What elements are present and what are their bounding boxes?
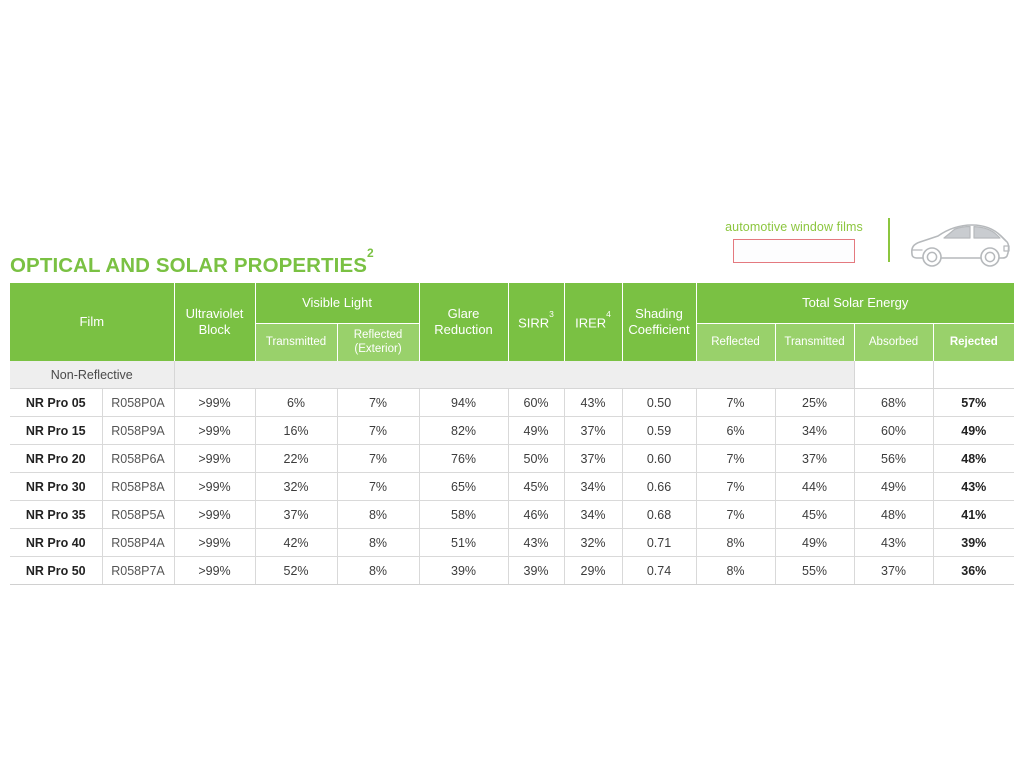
brand-divider [888, 218, 890, 262]
cell-tse-rejected: 49% [933, 417, 1014, 445]
header-ultraviolet-block: Ultraviolet Block [174, 283, 255, 361]
header-tse-reflected: Reflected [696, 324, 775, 362]
cell-vl-reflected: 7% [337, 473, 419, 501]
cell-shading-coefficient: 0.68 [622, 501, 696, 529]
cell-film-name: NR Pro 30 [10, 473, 102, 501]
cell-tse-rejected: 43% [933, 473, 1014, 501]
category-label: Non-Reflective [10, 361, 174, 389]
cell-uv-block: >99% [174, 417, 255, 445]
cell-tse-reflected: 7% [696, 501, 775, 529]
cell-glare-reduction: 65% [419, 473, 508, 501]
table-row: NR Pro 30R058P8A>99%32%7%65%45%34%0.667%… [10, 473, 1014, 501]
page-title-superscript: 2 [367, 246, 374, 260]
table-row: NR Pro 20R058P6A>99%22%7%76%50%37%0.607%… [10, 445, 1014, 473]
cell-irer: 32% [564, 529, 622, 557]
cell-tse-absorbed: 37% [854, 557, 933, 585]
cell-film-code: R058P9A [102, 417, 174, 445]
cell-shading-coefficient: 0.74 [622, 557, 696, 585]
cell-tse-rejected: 39% [933, 529, 1014, 557]
table-row: NR Pro 15R058P9A>99%16%7%82%49%37%0.596%… [10, 417, 1014, 445]
cell-tse-absorbed: 48% [854, 501, 933, 529]
cell-sirr: 45% [508, 473, 564, 501]
cell-tse-absorbed: 60% [854, 417, 933, 445]
cell-shading-coefficient: 0.59 [622, 417, 696, 445]
cell-vl-reflected: 8% [337, 501, 419, 529]
car-side-icon [908, 220, 1012, 275]
cell-tse-transmitted: 55% [775, 557, 854, 585]
cell-vl-transmitted: 32% [255, 473, 337, 501]
cell-tse-transmitted: 37% [775, 445, 854, 473]
header-tse-transmitted: Transmitted [775, 324, 854, 362]
cell-glare-reduction: 82% [419, 417, 508, 445]
cell-film-name: NR Pro 20 [10, 445, 102, 473]
page-title: OPTICAL AND SOLAR PROPERTIES2 [10, 253, 374, 278]
cell-glare-reduction: 94% [419, 389, 508, 417]
cell-irer: 37% [564, 417, 622, 445]
cell-film-code: R058P4A [102, 529, 174, 557]
table-body: Non-Reflective NR Pro 05R058P0A>99%6%7%9… [10, 361, 1014, 585]
brand-tagline: automotive window films [712, 220, 876, 234]
cell-film-name: NR Pro 05 [10, 389, 102, 417]
category-blank-white-rejected [933, 361, 1014, 389]
cell-sirr: 39% [508, 557, 564, 585]
header-visible-light-reflected: Reflected (Exterior) [337, 324, 419, 362]
brand-left: automotive window films [712, 218, 876, 263]
cell-tse-reflected: 8% [696, 557, 775, 585]
cell-irer: 34% [564, 473, 622, 501]
header-tse-rejected: Rejected [933, 324, 1014, 362]
table-row: NR Pro 05R058P0A>99%6%7%94%60%43%0.507%2… [10, 389, 1014, 417]
cell-tse-absorbed: 56% [854, 445, 933, 473]
cell-vl-transmitted: 37% [255, 501, 337, 529]
cell-glare-reduction: 51% [419, 529, 508, 557]
table-header-row-group: Film Ultraviolet Block Visible Light Gla… [10, 283, 1014, 324]
cell-tse-reflected: 7% [696, 445, 775, 473]
cell-vl-reflected: 7% [337, 389, 419, 417]
header-total-solar-energy: Total Solar Energy [696, 283, 1014, 324]
cell-irer: 43% [564, 389, 622, 417]
cell-film-code: R058P0A [102, 389, 174, 417]
cell-uv-block: >99% [174, 445, 255, 473]
brand-block: automotive window films [712, 218, 1012, 274]
cell-film-name: NR Pro 35 [10, 501, 102, 529]
cell-irer: 37% [564, 445, 622, 473]
table-row: NR Pro 50R058P7A>99%52%8%39%39%29%0.748%… [10, 557, 1014, 585]
cell-vl-reflected: 7% [337, 417, 419, 445]
cell-uv-block: >99% [174, 389, 255, 417]
header-sirr: SIRR3 [508, 283, 564, 361]
header-irer-superscript: 4 [606, 309, 611, 319]
cell-sirr: 46% [508, 501, 564, 529]
cell-film-name: NR Pro 15 [10, 417, 102, 445]
cell-tse-rejected: 57% [933, 389, 1014, 417]
cell-shading-coefficient: 0.50 [622, 389, 696, 417]
cell-vl-transmitted: 42% [255, 529, 337, 557]
cell-shading-coefficient: 0.60 [622, 445, 696, 473]
cell-tse-rejected: 48% [933, 445, 1014, 473]
cell-tse-transmitted: 49% [775, 529, 854, 557]
cell-sirr: 49% [508, 417, 564, 445]
header-tse-absorbed: Absorbed [854, 324, 933, 362]
cell-uv-block: >99% [174, 501, 255, 529]
cell-film-name: NR Pro 50 [10, 557, 102, 585]
cell-vl-transmitted: 22% [255, 445, 337, 473]
cell-tse-reflected: 7% [696, 389, 775, 417]
cell-uv-block: >99% [174, 473, 255, 501]
cell-uv-block: >99% [174, 529, 255, 557]
cell-tse-transmitted: 25% [775, 389, 854, 417]
cell-vl-transmitted: 16% [255, 417, 337, 445]
cell-tse-absorbed: 68% [854, 389, 933, 417]
header-glare-reduction: Glare Reduction [419, 283, 508, 361]
cell-film-code: R058P7A [102, 557, 174, 585]
category-blank-white-absorbed [854, 361, 933, 389]
table-row: NR Pro 35R058P5A>99%37%8%58%46%34%0.687%… [10, 501, 1014, 529]
cell-film-code: R058P6A [102, 445, 174, 473]
logo-image-placeholder [733, 239, 855, 263]
cell-glare-reduction: 76% [419, 445, 508, 473]
table-row: NR Pro 40R058P4A>99%42%8%51%43%32%0.718%… [10, 529, 1014, 557]
cell-tse-absorbed: 43% [854, 529, 933, 557]
cell-tse-reflected: 7% [696, 473, 775, 501]
cell-irer: 34% [564, 501, 622, 529]
header-visible-light-transmitted: Transmitted [255, 324, 337, 362]
category-blank-gray [174, 361, 854, 389]
header-visible-light: Visible Light [255, 283, 419, 324]
cell-vl-reflected: 7% [337, 445, 419, 473]
header-irer-text: IRER [575, 315, 606, 330]
cell-irer: 29% [564, 557, 622, 585]
cell-tse-transmitted: 44% [775, 473, 854, 501]
cell-film-code: R058P5A [102, 501, 174, 529]
cell-sirr: 43% [508, 529, 564, 557]
cell-glare-reduction: 58% [419, 501, 508, 529]
cell-film-code: R058P8A [102, 473, 174, 501]
header-irer: IRER4 [564, 283, 622, 361]
cell-uv-block: >99% [174, 557, 255, 585]
optical-solar-properties-table: Film Ultraviolet Block Visible Light Gla… [10, 283, 1014, 585]
cell-sirr: 60% [508, 389, 564, 417]
cell-sirr: 50% [508, 445, 564, 473]
cell-tse-rejected: 41% [933, 501, 1014, 529]
page-title-text: OPTICAL AND SOLAR PROPERTIES [10, 254, 367, 277]
cell-shading-coefficient: 0.66 [622, 473, 696, 501]
cell-vl-transmitted: 6% [255, 389, 337, 417]
header-film: Film [10, 283, 174, 361]
cell-tse-transmitted: 45% [775, 501, 854, 529]
cell-tse-rejected: 36% [933, 557, 1014, 585]
cell-glare-reduction: 39% [419, 557, 508, 585]
cell-tse-reflected: 8% [696, 529, 775, 557]
category-row-non-reflective: Non-Reflective [10, 361, 1014, 389]
cell-tse-reflected: 6% [696, 417, 775, 445]
header-sirr-text: SIRR [518, 315, 549, 330]
cell-vl-transmitted: 52% [255, 557, 337, 585]
cell-film-name: NR Pro 40 [10, 529, 102, 557]
cell-vl-reflected: 8% [337, 557, 419, 585]
header-shading-coefficient: Shading Coefficient [622, 283, 696, 361]
header-sirr-superscript: 3 [549, 309, 554, 319]
cell-vl-reflected: 8% [337, 529, 419, 557]
cell-shading-coefficient: 0.71 [622, 529, 696, 557]
cell-tse-absorbed: 49% [854, 473, 933, 501]
page-root: automotive window films [0, 0, 1024, 768]
cell-tse-transmitted: 34% [775, 417, 854, 445]
